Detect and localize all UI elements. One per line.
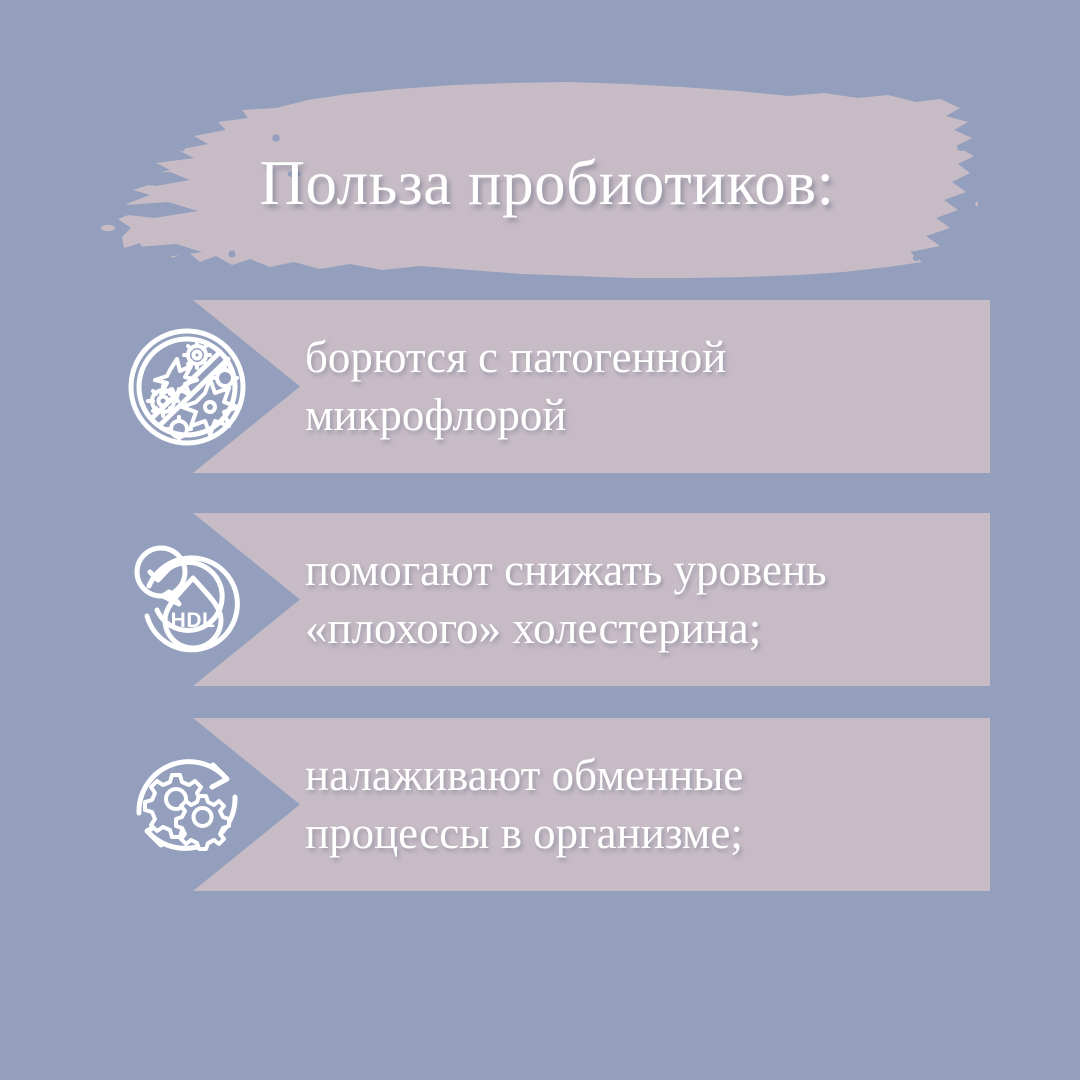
title-block: Польза пробиотиков: — [98, 78, 978, 288]
benefit-text: налаживают обменные процессы в организме… — [305, 718, 965, 891]
benefit-text: помогают снижать уровень «плохого» холес… — [305, 513, 965, 686]
gears-cycle-metabolism-icon — [121, 739, 253, 871]
benefit-row: борются с патогенной микрофлорой — [193, 300, 990, 473]
benefit-row: HDL помогают снижать уровень «плохого» х… — [193, 513, 990, 686]
benefit-text-line: процессы в организме; — [305, 805, 965, 863]
hdl-label: HDL — [171, 609, 216, 632]
benefit-text-line: микрофлорой — [305, 387, 965, 445]
hdl-cholesterol-drop-check-icon: HDL — [121, 534, 253, 666]
benefit-text-line: «плохого» холестерина; — [305, 600, 965, 658]
no-pathogen-bacteria-icon — [121, 321, 253, 453]
page-title: Польза пробиотиков: — [98, 78, 978, 288]
benefit-text-line: налаживают обменные — [305, 747, 965, 805]
benefit-text-line: борются с патогенной — [305, 329, 965, 387]
benefit-row: налаживают обменные процессы в организме… — [193, 718, 990, 891]
benefit-text-line: помогают снижать уровень — [305, 542, 965, 600]
poster-canvas: Польза пробиотиков: — [0, 0, 1080, 1080]
benefit-text: борются с патогенной микрофлорой — [305, 300, 965, 473]
